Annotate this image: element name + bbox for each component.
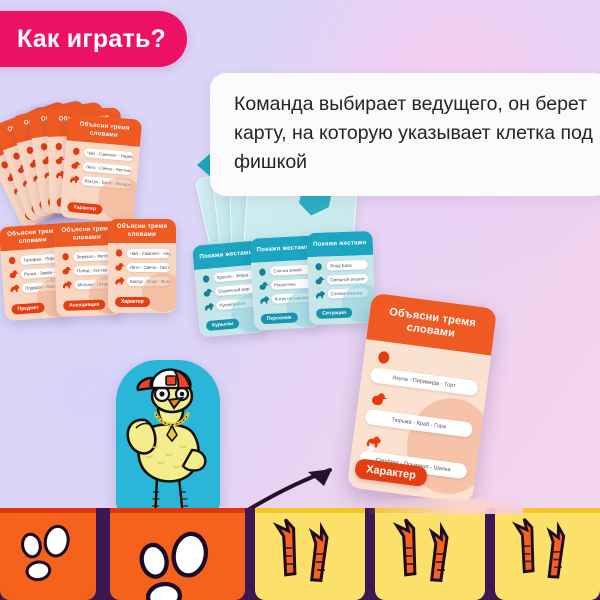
chicken-icon <box>259 295 271 306</box>
chicken-icon <box>61 280 72 290</box>
chicken-icon <box>314 289 325 299</box>
card-title: Объясни тремя словами <box>108 223 176 239</box>
card-title: Объясни тремя словами <box>67 119 142 141</box>
chicken-icon <box>203 301 215 312</box>
orange-card-fan-item[interactable]: Объясни тремя словамиЧай - Самолет - Нед… <box>59 114 142 224</box>
card-cta-button[interactable]: Характер <box>67 202 102 215</box>
hero-card-row: Акула - Пирамида - Торт <box>370 349 481 396</box>
card-words: Лето - Свеча - Лестница <box>83 162 133 175</box>
board-tile[interactable] <box>495 508 600 600</box>
card-row: Лето - Свеча - Лестница <box>70 160 133 175</box>
card-row: Спячка зимой <box>257 265 311 278</box>
chick-icon <box>369 391 388 408</box>
card-title: Покажи жестами <box>313 239 367 249</box>
card-row: Чай - Самолет - Неделя <box>114 248 170 258</box>
egg-icon <box>201 273 213 284</box>
egg-icon <box>375 350 394 367</box>
three-eggs-icon <box>110 508 245 600</box>
chick-icon <box>314 275 325 285</box>
card-header: Покажи жестами <box>306 231 373 257</box>
card-cta-button[interactable]: Персонаж <box>261 312 298 324</box>
card-title: Покажи жестами <box>256 244 310 255</box>
card-body: Чай - Самолет - НеделяЛето - Свеча - Лес… <box>59 140 139 223</box>
board-tile[interactable] <box>0 508 96 600</box>
egg-icon <box>313 261 324 271</box>
card-words: Спячка зимой <box>270 265 311 276</box>
card-words: Лето - Свеча - Лестница <box>127 263 170 272</box>
orange-card-fan: Объясни тремя словамиТелефон - Пирамида … <box>10 112 170 227</box>
card-row: Чай - Самолет - Неделя <box>71 146 134 161</box>
hero-card-words: Акула - Пирамида - Торт <box>370 367 479 396</box>
two-chicken-feet-icon <box>375 508 485 600</box>
chick-icon <box>202 287 214 298</box>
card-title: Покажи жестами <box>199 249 253 262</box>
title-badge-label: Как играть? <box>17 25 166 54</box>
board-tile[interactable] <box>110 508 245 600</box>
card-row: Кресло - Зебра <box>201 270 256 285</box>
card-cta-button[interactable]: Ситуация <box>316 308 352 319</box>
hero-card-body: Акула - Пирамида - Торт Тюрьма - Краб - … <box>347 339 491 503</box>
chick-icon <box>61 266 72 276</box>
chick-icon <box>258 281 270 292</box>
game-board <box>0 508 600 600</box>
egg-icon <box>54 141 65 151</box>
two-chicken-feet-icon <box>495 508 600 596</box>
egg-icon <box>60 252 71 262</box>
card-cta-button[interactable]: Курьезы <box>206 318 240 331</box>
card-row: Лето - Свеча - Лестница <box>114 262 170 272</box>
card-words: Этюд Баха <box>326 260 367 270</box>
card-row: Зеркало - Футбол - Арбуз <box>60 251 114 263</box>
poster-canvas: Как играть? Команда выбирает ведущего, о… <box>0 0 600 600</box>
board-tile[interactable] <box>375 508 485 600</box>
orange-card[interactable]: Объясни тремя словамиЧай - Самолет - Нед… <box>108 219 176 313</box>
card-words: Кресло - Зебра <box>214 270 256 283</box>
card-header: Объясни тремя словами <box>108 219 176 243</box>
title-badge: Как играть? <box>0 11 187 67</box>
card-body: Этюд БахаСмешной рецептСлепая музыкаСиту… <box>307 255 375 325</box>
egg-icon <box>257 267 269 278</box>
egg-icon <box>71 146 83 157</box>
three-eggs-icon <box>0 508 96 588</box>
two-chicken-feet-icon <box>255 508 365 600</box>
speech-bubble: Команда выбирает ведущего, он берет карт… <box>210 73 600 196</box>
card-row: Телефон - Пирамида - Лето <box>7 253 62 267</box>
chick-icon <box>70 160 82 171</box>
chicken-icon <box>364 433 383 450</box>
speech-bubble-text: Команда выбирает ведущего, он берет карт… <box>234 90 594 177</box>
hero-card[interactable]: Объясни тремя словами Акула - Пирамида -… <box>347 293 498 504</box>
chick-icon <box>8 270 20 281</box>
card-cta-button[interactable]: Характер <box>115 297 150 307</box>
card-words: Чай - Самолет - Неделя <box>84 148 134 161</box>
chicken-icon <box>68 174 80 185</box>
chicken-icon <box>9 284 21 295</box>
card-cta-button[interactable]: Ассоциация <box>63 299 105 310</box>
card-words: Чай - Самолет - Неделя <box>127 249 170 258</box>
board-sheen <box>368 498 523 514</box>
board-tile[interactable] <box>255 508 365 600</box>
egg-icon <box>114 248 125 258</box>
egg-icon <box>7 256 19 267</box>
chick-icon <box>114 262 125 272</box>
hero-card-title: Объясни тремя словами <box>368 303 496 345</box>
chicken-icon <box>114 276 125 286</box>
card-body: Чай - Самолет - НеделяЛето - Свеча - Лес… <box>108 243 176 313</box>
blue-card[interactable]: Покажи жестамиЭтюд БахаСмешной рецептСле… <box>306 231 375 325</box>
card-row: Этюд Баха <box>313 260 367 272</box>
card-cta-button[interactable]: Предмет <box>11 302 45 314</box>
